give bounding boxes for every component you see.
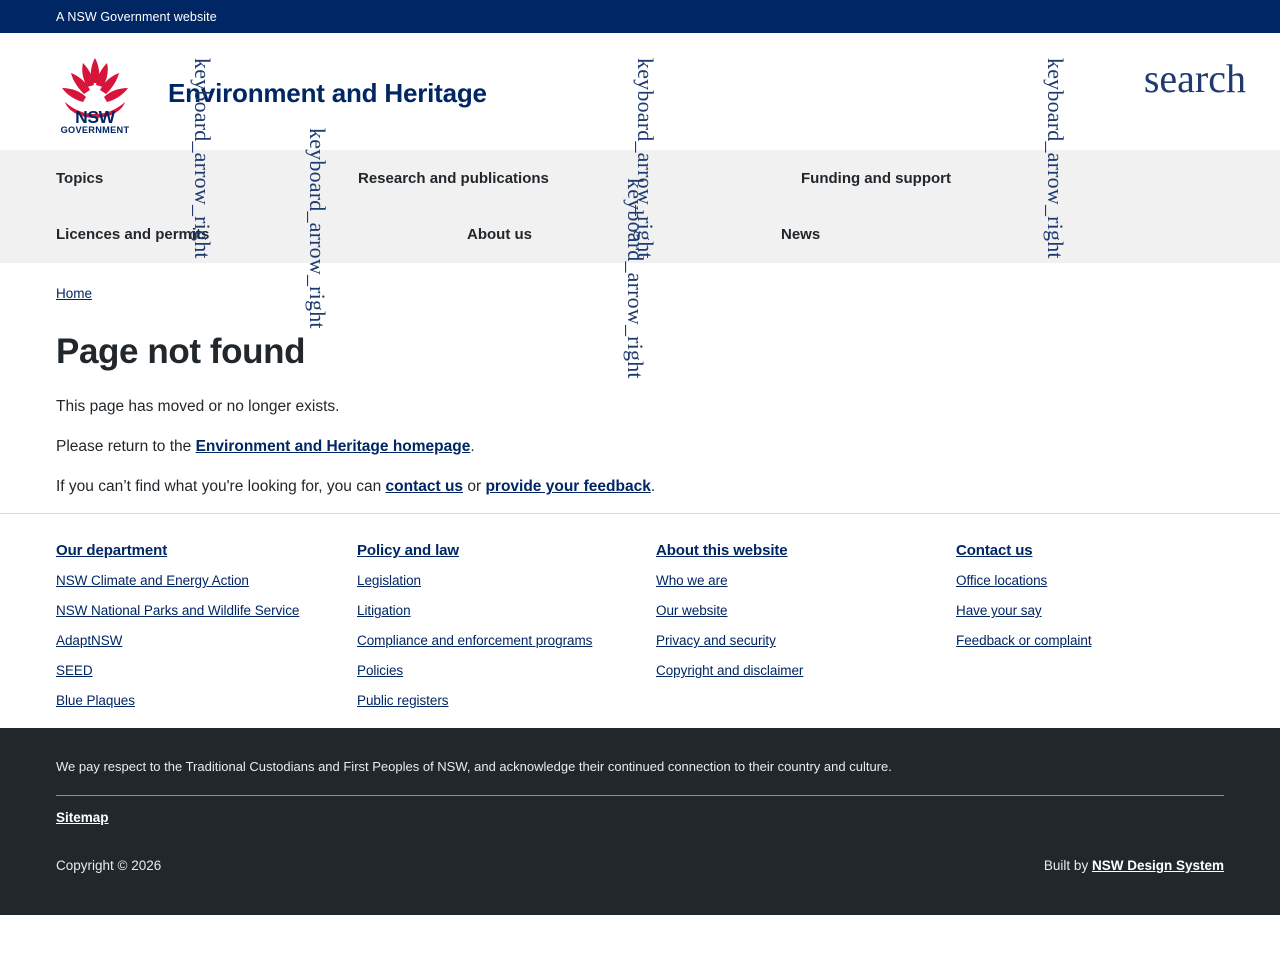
footer-link[interactable]: Who we are [656,573,803,588]
return-home-suffix: . [470,438,474,455]
help-prefix: If you can’t find what you're looking fo… [56,478,386,495]
footer-column-heading[interactable]: About this website [656,542,803,559]
sitemap-link[interactable]: Sitemap [56,810,109,825]
acknowledgement-of-country: We pay respect to the Traditional Custod… [56,758,1226,776]
page-title: Page not found [56,332,305,372]
nsw-government-waratah-logo[interactable]: GOVERNMENT NSW [56,52,134,134]
nav-item-about-us[interactable]: About us [467,226,532,243]
footer-column-heading[interactable]: Contact us [956,542,1092,559]
government-bar-label: A NSW Government website [56,10,217,24]
help-paragraph: If you can’t find what you're looking fo… [56,476,655,498]
footer-link[interactable]: Compliance and enforcement programs [357,633,592,648]
footer-link[interactable]: Privacy and security [656,633,803,648]
built-by-text: Built by NSW Design System [1044,858,1224,873]
homepage-link[interactable]: Environment and Heritage homepage [196,438,471,455]
footer-column-our-department: Our department NSW Climate and Energy Ac… [56,542,299,723]
main-navigation: Topics Research and publications Funding… [0,150,1280,263]
footer-divider-rule [56,795,1224,796]
footer-link[interactable]: Legislation [357,573,592,588]
footer-link[interactable]: Our website [656,603,803,618]
footer-link[interactable]: Copyright and disclaimer [656,663,803,678]
breadcrumb: Home [56,286,92,301]
svg-text:NSW: NSW [75,107,116,127]
footer-link[interactable]: Have your say [956,603,1092,618]
nav-item-licences-and-permits[interactable]: Licences and permits [56,226,209,243]
footer-link[interactable]: Blue Plaques [56,693,299,708]
search-icon[interactable]: search [1144,59,1246,99]
return-home-paragraph: Please return to the Environment and Her… [56,436,475,458]
footer-link[interactable]: Office locations [956,573,1092,588]
footer-column-heading[interactable]: Our department [56,542,299,559]
built-by-prefix: Built by [1044,858,1092,873]
footer-link[interactable]: Public registers [357,693,592,708]
footer-link[interactable]: NSW National Parks and Wildlife Service [56,603,299,618]
return-home-prefix: Please return to the [56,438,196,455]
nav-item-news[interactable]: News [781,226,820,243]
nav-item-topics[interactable]: Topics [56,170,103,187]
help-suffix: . [651,478,655,495]
site-footer: We pay respect to the Traditional Custod… [0,728,1280,915]
footer-link-columns: Our department NSW Climate and Energy Ac… [0,514,1280,728]
government-top-bar: A NSW Government website [0,0,1280,33]
copyright-text: Copyright © 2026 [56,858,161,873]
footer-column-about-this-website: About this website Who we are Our websit… [656,542,803,693]
footer-link[interactable]: Litigation [357,603,592,618]
nav-item-funding-and-support[interactable]: Funding and support [801,170,951,187]
footer-link[interactable]: AdaptNSW [56,633,299,648]
site-masthead: GOVERNMENT NSW Environment and Heritage … [0,33,1280,150]
help-separator: or [463,478,485,495]
footer-column-heading[interactable]: Policy and law [357,542,592,559]
breadcrumb-item-home[interactable]: Home [56,286,92,301]
footer-link[interactable]: Policies [357,663,592,678]
site-title[interactable]: Environment and Heritage [168,78,487,109]
error-message-paragraph: This page has moved or no longer exists. [56,396,339,418]
nav-item-research-and-publications[interactable]: Research and publications [358,170,549,187]
footer-link[interactable]: Feedback or complaint [956,633,1092,648]
contact-us-link[interactable]: contact us [386,478,464,495]
footer-link[interactable]: NSW Climate and Energy Action [56,573,299,588]
nsw-design-system-link[interactable]: NSW Design System [1092,858,1224,873]
nsw-environment-heritage-404-page: A NSW Government website [0,0,1280,960]
footer-column-contact-us: Contact us Office locations Have your sa… [956,542,1092,663]
footer-link[interactable]: SEED [56,663,299,678]
footer-column-policy-and-law: Policy and law Legislation Litigation Co… [357,542,592,723]
provide-feedback-link[interactable]: provide your feedback [485,478,650,495]
